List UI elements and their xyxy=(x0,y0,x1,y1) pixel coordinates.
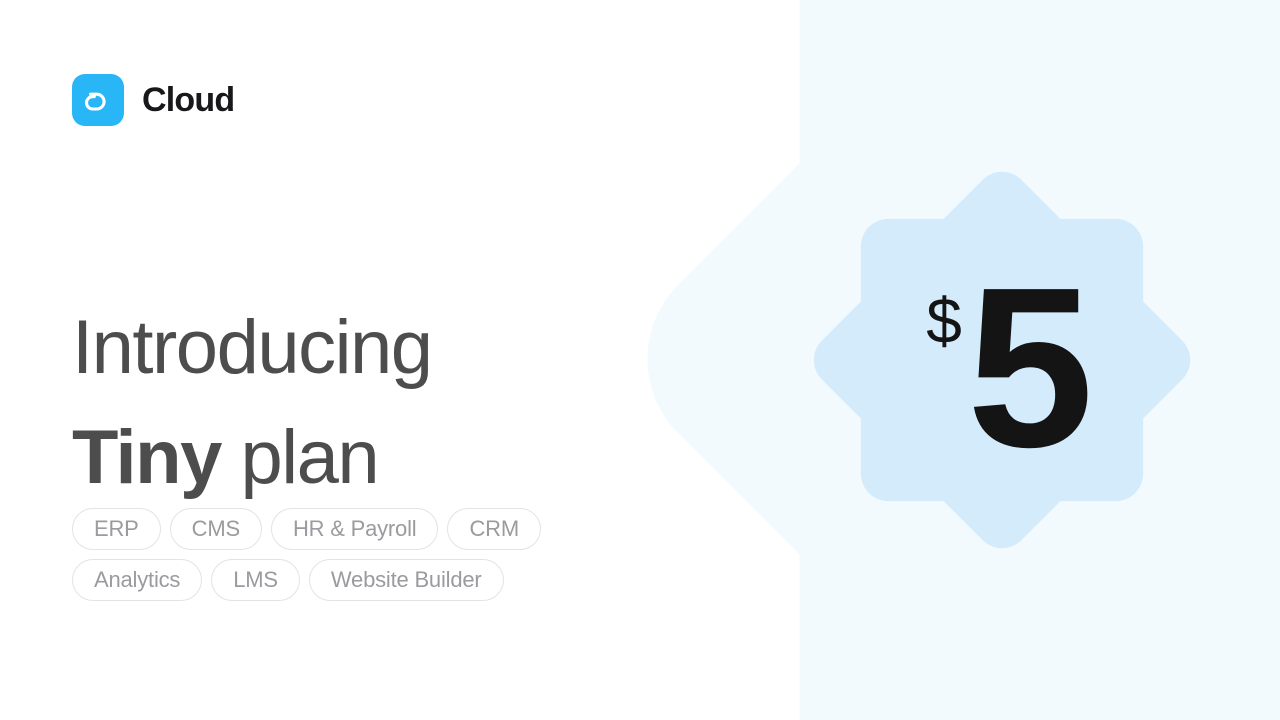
brand-logo[interactable]: Cloud xyxy=(72,74,234,126)
tag-pill-hr-payroll[interactable]: HR & Payroll xyxy=(271,508,439,550)
promo-banner: $ 5 Cloud Introducing Tiny plan ERP CMS … xyxy=(0,0,1280,720)
brand-wordmark: Cloud xyxy=(142,83,234,117)
headline-intro-text: Introducing xyxy=(72,305,432,390)
tag-pill-lms[interactable]: LMS xyxy=(211,559,300,601)
tag-pill-website-builder[interactable]: Website Builder xyxy=(309,559,504,601)
cloud-icon xyxy=(72,74,124,126)
page-title: Introducing Tiny plan xyxy=(72,293,632,513)
headline-emphasis-text: Tiny xyxy=(72,415,221,500)
price-amount: 5 xyxy=(967,254,1088,482)
price-currency-symbol: $ xyxy=(926,289,961,353)
headline-line-2: Tiny plan xyxy=(72,403,632,513)
price-value-group: $ 5 xyxy=(811,171,1203,565)
tag-pill-erp[interactable]: ERP xyxy=(72,508,161,550)
tag-pill-crm[interactable]: CRM xyxy=(447,508,541,550)
product-tag-list: ERP CMS HR & Payroll CRM Analytics LMS W… xyxy=(72,508,592,601)
tag-pill-cms[interactable]: CMS xyxy=(170,508,262,550)
tag-pill-analytics[interactable]: Analytics xyxy=(72,559,202,601)
headline-plan-text: plan xyxy=(221,415,378,500)
price-badge: $ 5 xyxy=(806,163,1198,557)
headline-line-1: Introducing xyxy=(72,293,632,403)
